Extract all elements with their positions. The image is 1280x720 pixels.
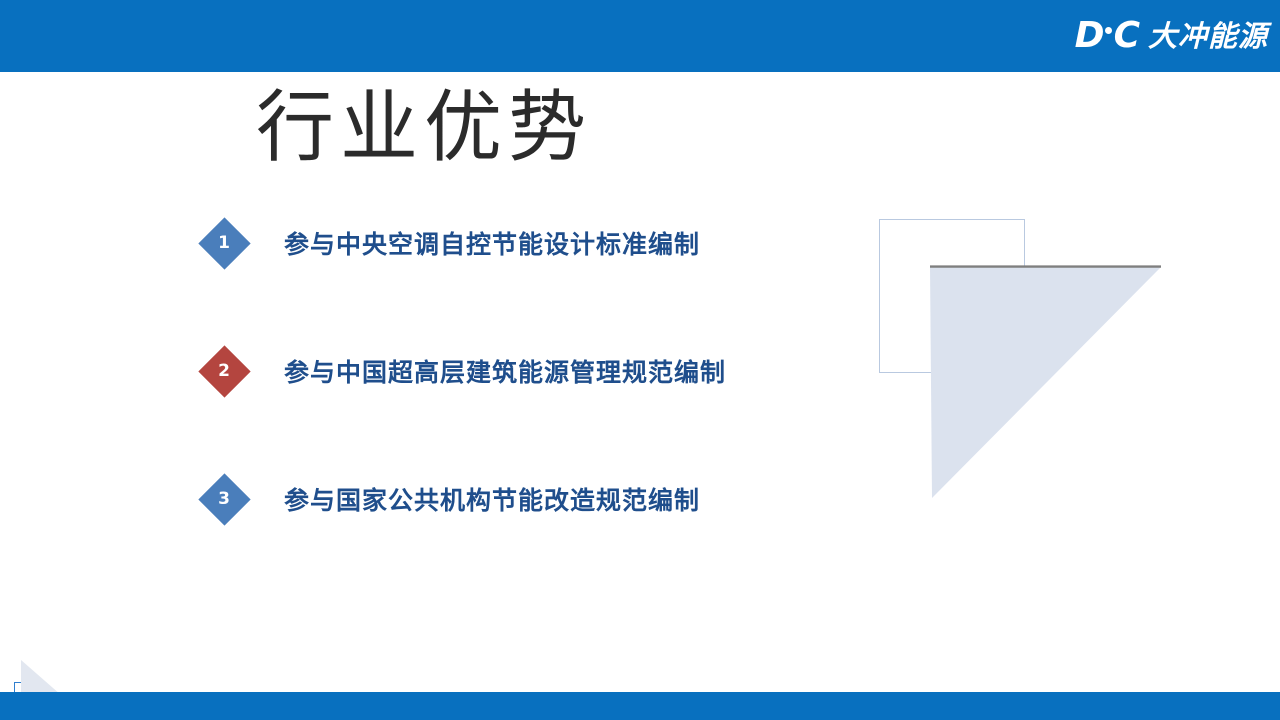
list-item-label: 参与国家公共机构节能改造规范编制 <box>284 481 700 517</box>
diamond-number: 3 <box>198 473 250 525</box>
advantage-list: 1 参与中央空调自控节能设计标准编制 2 参与中国超高层建筑能源管理规范编制 3… <box>198 213 838 597</box>
logo-mark-icon: D C <box>1075 18 1139 54</box>
header-bar: D C 大冲能源 <box>0 0 1280 72</box>
logo-letter-c: C <box>1114 18 1139 54</box>
decoration-triangle-icon <box>930 265 1162 499</box>
footer-bar <box>0 692 1280 720</box>
diamond-number: 1 <box>198 217 250 269</box>
logo-wordmark: 大冲能源 <box>1148 22 1268 51</box>
logo-letter-d: D <box>1075 18 1104 54</box>
list-item: 2 参与中国超高层建筑能源管理规范编制 <box>198 341 838 401</box>
list-item-label: 参与中央空调自控节能设计标准编制 <box>284 225 700 261</box>
company-logo: D C 大冲能源 <box>1075 14 1268 58</box>
diamond-number: 2 <box>198 345 250 397</box>
page-title: 行业优势 <box>256 82 592 176</box>
diamond-badge-2: 2 <box>198 345 250 397</box>
list-item-label: 参与中国超高层建筑能源管理规范编制 <box>284 353 726 389</box>
diamond-badge-1: 1 <box>198 217 250 269</box>
diamond-badge-3: 3 <box>198 473 250 525</box>
slide-canvas: D C 大冲能源 行业优势 1 参与中央空调自控节能设计标准编制 2 参与中国超… <box>0 0 1280 720</box>
list-item: 3 参与国家公共机构节能改造规范编制 <box>198 469 838 529</box>
logo-dot-icon <box>1105 27 1112 34</box>
list-item: 1 参与中央空调自控节能设计标准编制 <box>198 213 838 273</box>
